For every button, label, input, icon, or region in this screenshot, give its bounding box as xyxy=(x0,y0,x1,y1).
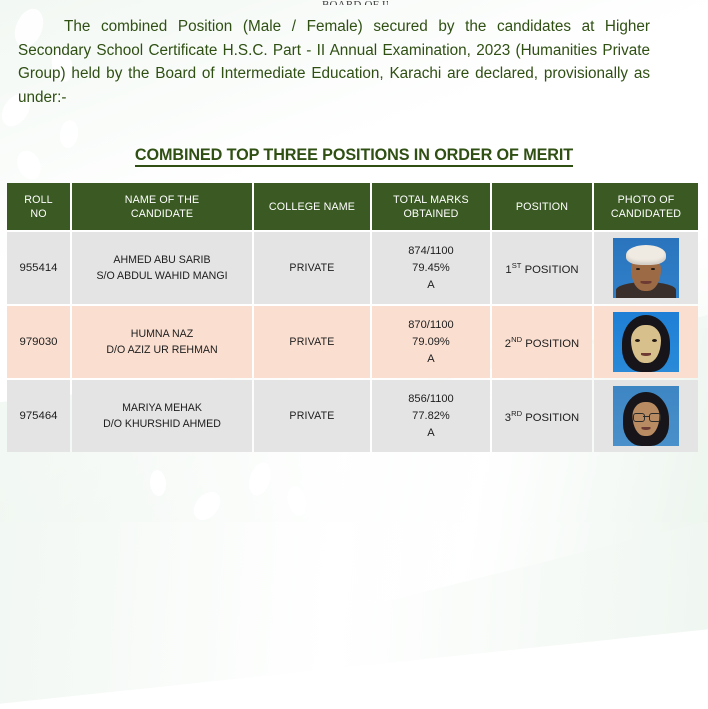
position-ordinal: ND xyxy=(511,335,522,344)
college-value: PRIVATE xyxy=(289,410,334,422)
cell-roll-no: 979030 xyxy=(7,306,70,378)
marks-block: 856/1100 77.82% A xyxy=(376,391,486,442)
photo-mouth xyxy=(641,353,651,356)
photo-glasses-bridge xyxy=(643,416,649,417)
candidate-name: AHMED ABU SARIB S/O ABDUL WAHID MANGI xyxy=(76,254,248,284)
cell-college: PRIVATE xyxy=(254,306,370,378)
marks-block: 874/1100 79.45% A xyxy=(376,243,486,294)
slide-page: BOARD OF INTERMEDIATE EDUCATION The comb… xyxy=(0,0,708,522)
cell-photo xyxy=(594,306,698,378)
position-ordinal: ST xyxy=(512,261,522,270)
table-row: 975464 MARIYA MEHAK D/O KHURSHID AHMED P… xyxy=(7,380,698,452)
marks-obtained-value: 856/1100 xyxy=(376,391,486,408)
cell-candidate-name: MARIYA MEHAK D/O KHURSHID AHMED xyxy=(72,380,252,452)
position-word: POSITION xyxy=(525,264,579,276)
roll-no-value: 975464 xyxy=(19,410,57,422)
cell-total-marks: 874/1100 79.45% A xyxy=(372,232,490,304)
percentage-value: 79.09% xyxy=(376,334,486,351)
position-value: 2ND POSITION xyxy=(505,338,579,350)
grade-value: A xyxy=(376,277,486,294)
percentage-value: 79.45% xyxy=(376,260,486,277)
roll-no-value: 955414 xyxy=(19,262,57,274)
name-label-line1: NAME OF THE xyxy=(125,194,200,206)
college-value: PRIVATE xyxy=(289,262,334,274)
column-header-photo: PHOTO OF CANDIDATED xyxy=(594,183,698,230)
table-row: 955414 AHMED ABU SARIB S/O ABDUL WAHID M… xyxy=(7,232,698,304)
clipped-header-text: BOARD OF INTERMEDIATE EDUCATION xyxy=(322,0,388,5)
cell-photo xyxy=(594,380,698,452)
photo-glasses-right xyxy=(649,413,661,422)
candidate-name: HUMNA NAZ D/O AZIZ UR REHMAN xyxy=(76,328,248,358)
cell-college: PRIVATE xyxy=(254,232,370,304)
column-header-total-marks: TOTAL MARKS OBTAINED xyxy=(372,183,490,230)
college-value: PRIVATE xyxy=(289,336,334,348)
cell-college: PRIVATE xyxy=(254,380,370,452)
column-header-position: POSITION xyxy=(492,183,592,230)
marks-label-line2: OBTAINED xyxy=(403,208,458,220)
candidate-name-line1: HUMNA NAZ xyxy=(131,328,193,340)
grade-value: A xyxy=(376,351,486,368)
cell-candidate-name: AHMED ABU SARIB S/O ABDUL WAHID MANGI xyxy=(72,232,252,304)
photo-eye-left xyxy=(635,339,640,342)
candidate-name-line2: D/O KHURSHID AHMED xyxy=(76,416,248,432)
column-header-college: COLLEGE NAME xyxy=(254,183,370,230)
photo-headwear-turban xyxy=(626,245,666,265)
cell-roll-no: 975464 xyxy=(7,380,70,452)
cell-position: 1ST POSITION xyxy=(492,232,592,304)
photo-mouth xyxy=(641,281,652,284)
column-header-name: NAME OF THE CANDIDATE xyxy=(72,183,252,230)
position-value: 3RD POSITION xyxy=(505,412,579,424)
table-header-row: ROLL NO NAME OF THE CANDIDATE COLLEGE NA… xyxy=(7,183,698,230)
photo-face xyxy=(631,325,661,363)
roll-no-value: 979030 xyxy=(19,336,57,348)
photo-label-line2: CANDIDATED xyxy=(611,208,681,220)
page-title-text: COMBINED TOP THREE POSITIONS IN ORDER OF… xyxy=(135,146,573,167)
cell-position: 2ND POSITION xyxy=(492,306,592,378)
candidate-name-line2: S/O ABDUL WAHID MANGI xyxy=(76,268,248,284)
cell-roll-no: 955414 xyxy=(7,232,70,304)
marks-obtained-value: 874/1100 xyxy=(376,243,486,260)
intro-paragraph-text: The combined Position (Male / Female) se… xyxy=(18,18,650,106)
candidate-photo xyxy=(613,238,679,298)
percentage-value: 77.82% xyxy=(376,408,486,425)
roll-no-label-line2: NO xyxy=(30,208,46,220)
photo-label-line1: PHOTO OF xyxy=(618,194,675,206)
roll-no-label-line1: ROLL xyxy=(24,194,53,206)
marks-block: 870/1100 79.09% A xyxy=(376,317,486,368)
photo-mouth xyxy=(642,427,651,430)
position-word: POSITION xyxy=(525,338,579,350)
merit-table: ROLL NO NAME OF THE CANDIDATE COLLEGE NA… xyxy=(5,181,700,454)
position-word: POSITION xyxy=(525,412,579,424)
grade-value: A xyxy=(376,425,486,442)
candidate-name-line2: D/O AZIZ UR REHMAN xyxy=(76,342,248,358)
position-label-line1: POSITION xyxy=(516,201,568,213)
intro-paragraph: The combined Position (Male / Female) se… xyxy=(18,15,650,109)
name-label-line2: CANDIDATE xyxy=(131,208,193,220)
cell-total-marks: 870/1100 79.09% A xyxy=(372,306,490,378)
photo-glasses-left xyxy=(633,413,645,422)
candidate-photo xyxy=(613,312,679,372)
college-label-line1: COLLEGE NAME xyxy=(269,201,355,213)
column-header-roll-no: ROLL NO xyxy=(7,183,70,230)
position-ordinal: RD xyxy=(511,409,522,418)
candidate-name-line1: AHMED ABU SARIB xyxy=(113,254,210,266)
page-title: COMBINED TOP THREE POSITIONS IN ORDER OF… xyxy=(0,146,708,165)
table-row: 979030 HUMNA NAZ D/O AZIZ UR REHMAN PRIV… xyxy=(7,306,698,378)
cell-photo xyxy=(594,232,698,304)
candidate-name-line1: MARIYA MEHAK xyxy=(122,402,202,414)
candidate-name: MARIYA MEHAK D/O KHURSHID AHMED xyxy=(76,402,248,432)
cell-candidate-name: HUMNA NAZ D/O AZIZ UR REHMAN xyxy=(72,306,252,378)
cell-total-marks: 856/1100 77.82% A xyxy=(372,380,490,452)
marks-obtained-value: 870/1100 xyxy=(376,317,486,334)
candidate-photo xyxy=(613,386,679,446)
position-value: 1ST POSITION xyxy=(505,264,578,276)
marks-label-line1: TOTAL MARKS xyxy=(393,194,469,206)
photo-eye-right xyxy=(652,339,657,342)
cell-position: 3RD POSITION xyxy=(492,380,592,452)
